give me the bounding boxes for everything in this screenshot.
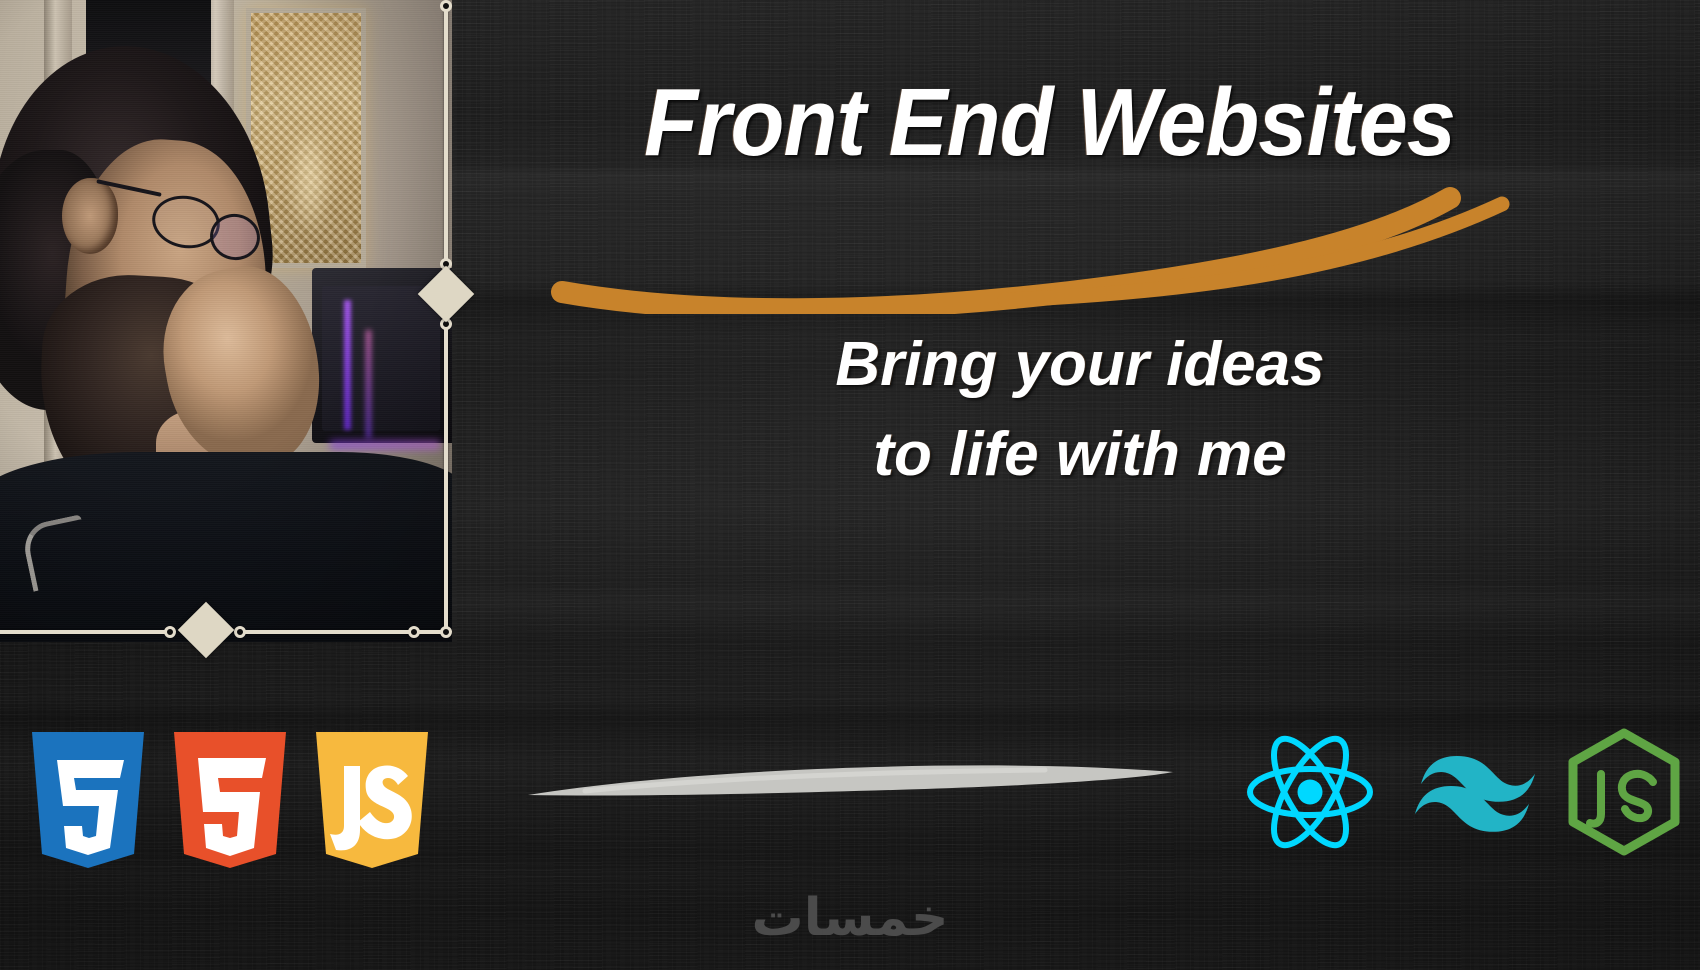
subtitle-line-2: to life with me xyxy=(560,410,1600,500)
profile-photo xyxy=(0,0,452,642)
react-logo xyxy=(1245,733,1375,851)
subtitle-line-1: Bring your ideas xyxy=(560,320,1600,410)
photo-artwork xyxy=(0,0,452,642)
tech-stack-left xyxy=(28,730,432,870)
title-swoosh-decoration xyxy=(550,164,1550,314)
tailwindcss-logo xyxy=(1405,752,1535,832)
headline-block: Front End Websites xyxy=(560,68,1600,268)
tech-stack-right xyxy=(1245,728,1683,856)
photo-shading xyxy=(0,0,452,642)
subtitle-block: Bring your ideas to life with me xyxy=(560,320,1600,500)
html5-logo xyxy=(170,730,290,870)
javascript-logo xyxy=(312,730,432,870)
css3-logo xyxy=(28,730,148,870)
nodejs-logo xyxy=(1565,728,1683,856)
khamsat-watermark: خمسات xyxy=(0,888,1700,948)
brush-stroke-decoration xyxy=(525,755,1185,805)
page-title: Front End Websites xyxy=(644,68,1455,178)
service-banner: Front End Websites Bring your ideas to l… xyxy=(0,0,1700,970)
